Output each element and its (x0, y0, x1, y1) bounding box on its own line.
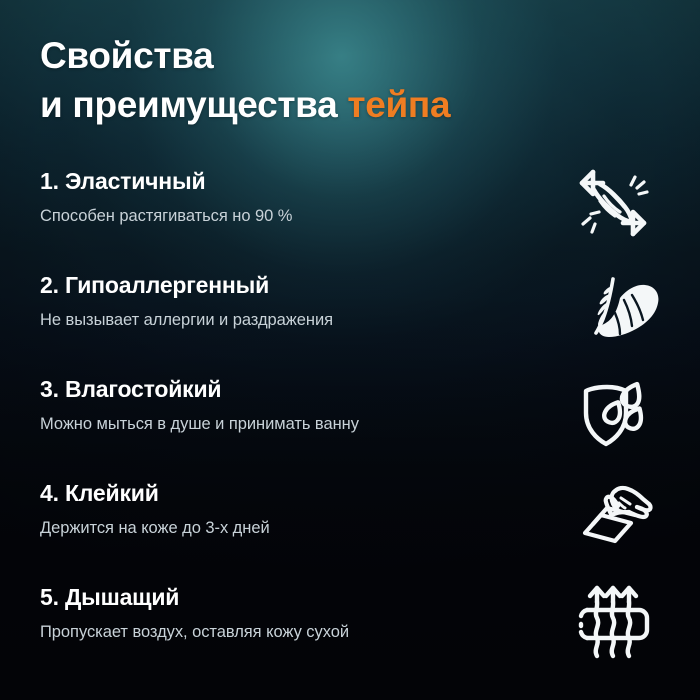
page-title-line-2-plain: и преимущества (40, 84, 347, 125)
breathable-patch-airflow-icon (573, 580, 653, 662)
list-item: 4. Клейкий Держится на коже до 3-х дней (0, 468, 700, 572)
list-item: 1. Эластичный Способен растягиваться но … (0, 156, 700, 260)
list-item: 3. Влагостойкий Можно мыться в душе и пр… (0, 364, 700, 468)
list-item: 2. Гипоаллергенный Не вызывает аллергии … (0, 260, 700, 364)
feather-icon (579, 269, 663, 349)
feature-list: 1. Эластичный Способен растягиваться но … (0, 156, 700, 676)
feature-icon-slot (570, 578, 656, 664)
slide-content: Свойства и преимущества тейпа 1. Эластич… (0, 0, 700, 700)
page-title-line-1: Свойства (40, 32, 600, 81)
feature-icon-slot (570, 160, 656, 246)
page-title: Свойства и преимущества тейпа (40, 32, 600, 130)
list-item: 5. Дышащий Пропускает воздух, оставляя к… (0, 572, 700, 676)
stretch-arrows-icon (573, 163, 653, 243)
feature-icon-slot (570, 370, 656, 456)
shield-water-drops-icon (573, 373, 653, 453)
promo-slide: Свойства и преимущества тейпа 1. Эластич… (0, 0, 700, 700)
feature-icon-slot (574, 476, 660, 562)
hand-applying-patch-icon (575, 479, 659, 559)
page-title-accent-word: тейпа (347, 84, 450, 125)
page-title-line-2: и преимущества тейпа (40, 81, 600, 130)
feature-icon-slot (578, 266, 664, 352)
